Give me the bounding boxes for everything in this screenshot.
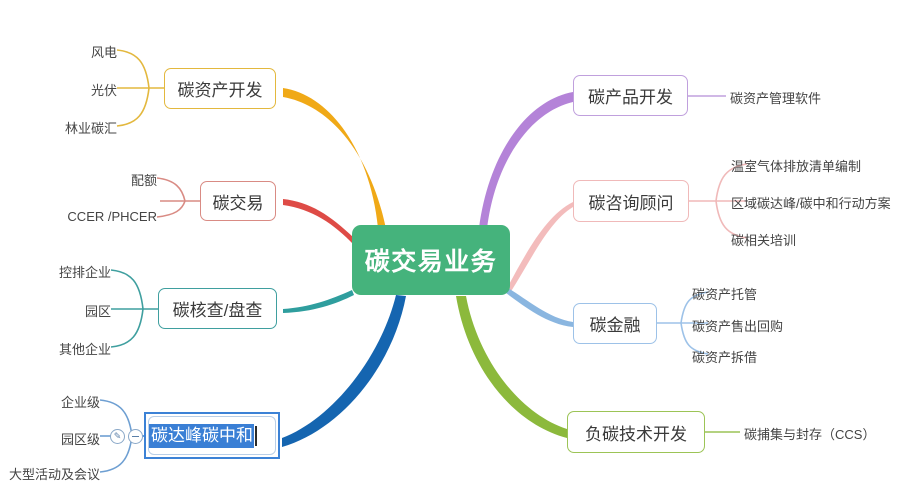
leaf-label-dahuodong-huiyi[interactable]: 大型活动及会议	[4, 464, 100, 483]
leaf-label-qita-qiye[interactable]: 其他企业	[24, 339, 111, 358]
leaf-wire-kongpai	[111, 270, 143, 309]
note-glyph: ✎	[114, 432, 122, 441]
branch-wire-carbon-finance	[506, 288, 573, 327]
branch-node-carbon-trading[interactable]: 碳交易	[200, 181, 276, 221]
branch-node-label: 碳金融	[590, 311, 641, 336]
mindmap-canvas: 碳交易业务 碳资产开发 风电 光伏 林业碳汇 碳交易 配额 CCER /PHCE…	[0, 0, 900, 489]
leaf-label-yuanquji[interactable]: 园区级	[30, 429, 100, 448]
branch-node-label: 负碳技术开发	[585, 420, 687, 445]
branch-wire-negative-carbon-tech	[456, 296, 567, 438]
leaf-label-fengdian[interactable]: 风电	[47, 42, 117, 61]
branch-wire-carbon-consulting	[506, 202, 573, 293]
leaf-label-tanzichan-tuoguan[interactable]: 碳资产托管	[692, 284, 757, 303]
leaf-label-ccs[interactable]: 碳捕集与封存（CCS）	[744, 424, 875, 443]
branch-node-label: 碳资产开发	[178, 76, 263, 101]
leaf-label-kongpai-qiye[interactable]: 控排企业	[24, 262, 111, 281]
branch-wire-carbon-product-development	[479, 92, 573, 229]
selected-text: 碳达峰碳中和	[149, 424, 254, 448]
leaf-label-yuanqu[interactable]: 园区	[41, 301, 111, 320]
branch-node-label: 碳产品开发	[588, 83, 673, 108]
leaf-wire-peie	[157, 178, 185, 201]
leaf-label-tanzichan-guanli-ruanjian[interactable]: 碳资产管理软件	[730, 88, 821, 107]
branch-wire-carbon-trading	[283, 199, 354, 245]
node-text-input[interactable]: 碳达峰碳中和	[148, 416, 276, 455]
text-caret	[255, 426, 257, 446]
leaf-label-guangfu[interactable]: 光伏	[47, 80, 117, 99]
branch-node-carbon-finance[interactable]: 碳金融	[573, 303, 657, 344]
leaf-label-tan-peixun[interactable]: 碳相关培训	[731, 230, 796, 249]
branch-wire-carbon-verification	[283, 290, 354, 313]
leaf-wire-linye	[117, 88, 149, 126]
branch-node-carbon-peak-neutrality-editing[interactable]: 碳达峰碳中和	[144, 412, 280, 459]
minus-glyph	[132, 436, 139, 437]
branch-node-negative-carbon-tech[interactable]: 负碳技术开发	[567, 411, 705, 453]
branch-node-carbon-asset-development[interactable]: 碳资产开发	[164, 68, 276, 109]
branch-node-carbon-product-development[interactable]: 碳产品开发	[573, 75, 688, 116]
center-node-label: 碳交易业务	[365, 242, 498, 278]
leaf-label-ccer-phcer[interactable]: CCER /PHCER	[47, 209, 157, 224]
leaf-wire-fengdian	[117, 50, 149, 88]
leaf-label-tanzichan-chaijie[interactable]: 碳资产拆借	[692, 347, 757, 366]
note-icon[interactable]: ✎	[110, 429, 125, 444]
branch-wire-carbon-peak-neutrality	[282, 295, 406, 447]
leaf-label-quyu-tandafeng[interactable]: 区域碳达峰/碳中和行动方案	[731, 193, 891, 212]
branch-wire-carbon-asset-development	[283, 88, 386, 229]
leaf-label-qiyeji[interactable]: 企业级	[30, 392, 100, 411]
branch-node-label: 碳咨询顾问	[589, 189, 674, 214]
branch-node-carbon-verification[interactable]: 碳核查/盘查	[158, 288, 277, 329]
leaf-label-linye-tanhui[interactable]: 林业碳汇	[30, 118, 117, 137]
center-node[interactable]: 碳交易业务	[352, 225, 510, 295]
collapse-icon[interactable]	[128, 429, 143, 444]
branch-node-label: 碳核查/盘查	[173, 296, 263, 321]
leaf-label-peie[interactable]: 配额	[87, 170, 157, 189]
leaf-label-wenshi-qiti[interactable]: 温室气体排放清单编制	[731, 156, 861, 175]
leaf-label-tanzichan-shouchu-huigou[interactable]: 碳资产售出回购	[692, 316, 783, 335]
branch-node-carbon-consulting[interactable]: 碳咨询顾问	[573, 180, 689, 222]
leaf-wire-qita	[111, 309, 143, 347]
leaf-wire-ccer	[157, 201, 185, 217]
branch-node-label: 碳交易	[213, 189, 264, 214]
